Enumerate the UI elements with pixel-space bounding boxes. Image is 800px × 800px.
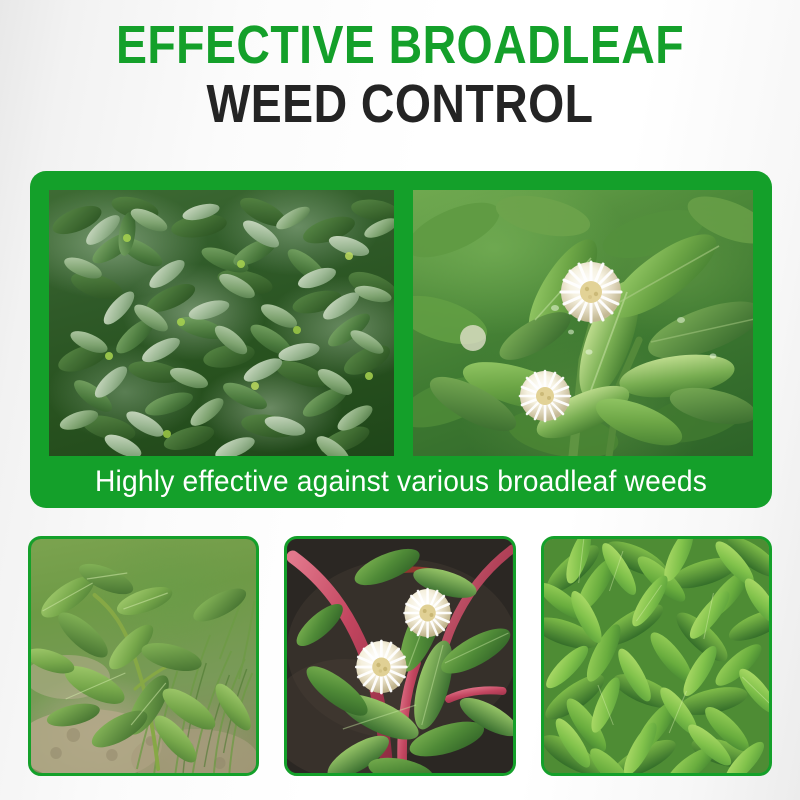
photo-art-alligator-weed (413, 190, 753, 456)
thumbnail-row (28, 536, 772, 776)
groundcover-foliage-svg (49, 190, 394, 456)
gravel-weed-svg (31, 539, 256, 773)
headline-block: EFFECTIVE BROADLEAF WEED CONTROL (0, 0, 800, 132)
photo-alligator-weed-flowers (413, 190, 753, 456)
panel-caption: Highly effective against various broadle… (70, 456, 732, 508)
red-stem-weed-svg (287, 539, 512, 773)
flower-head-right (405, 589, 451, 637)
photo-dense-broadleaf-groundcover (49, 190, 394, 456)
featured-photo-panel: Highly effective against various broadle… (30, 171, 772, 508)
headline-line-2: WEED CONTROL (56, 77, 744, 132)
flower-head-upper (561, 262, 621, 322)
photo-art-weed-lawn (544, 539, 769, 773)
photo-art-groundcover (49, 190, 394, 456)
thumbnail-broadleaf-weed-lawn (541, 536, 772, 776)
alligator-weed-svg (413, 190, 753, 456)
weed-lawn-svg (544, 539, 769, 773)
flower-head-lower (520, 371, 570, 421)
flower-head-left (357, 641, 407, 693)
thumbnail-red-stem-weed-flowers (284, 536, 515, 776)
headline-line-1: EFFECTIVE BROADLEAF (56, 18, 744, 73)
featured-photo-row (49, 190, 753, 456)
photo-art-gravel-weed (31, 539, 256, 773)
photo-art-red-stem-weed (287, 539, 512, 773)
thumbnail-weed-in-gravel-patch (28, 536, 259, 776)
